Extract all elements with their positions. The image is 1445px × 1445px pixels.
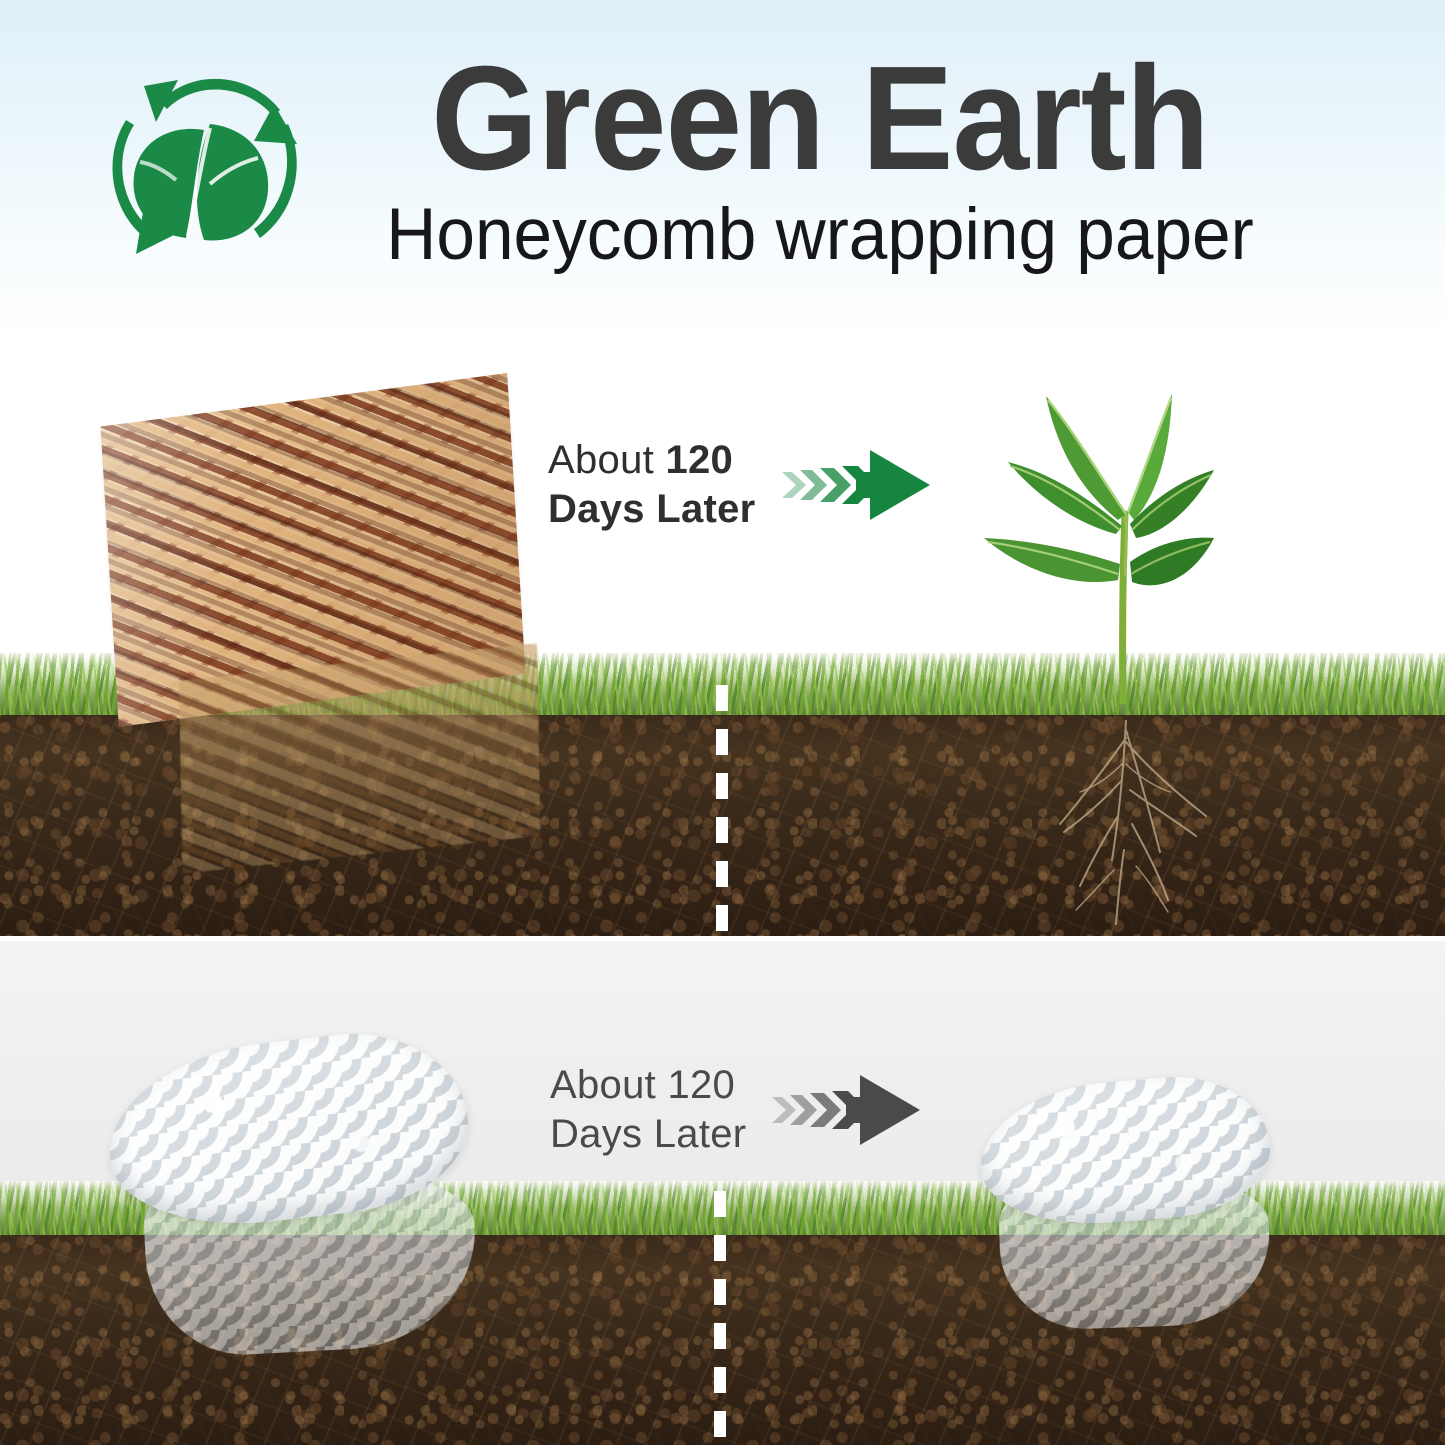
honeycomb-paper-panel: About 120 Days Later xyxy=(0,340,1445,937)
caption-line-2: Days Later xyxy=(550,1110,746,1159)
product-infographic: Green Earth Honeycomb wrapping paper xyxy=(0,0,1445,1445)
title-block: Green Earth Honeycomb wrapping paper xyxy=(320,44,1320,275)
caption-days-count: 120 xyxy=(665,438,733,482)
before-after-caption: About 120 Days Later xyxy=(548,436,934,534)
green-seedling xyxy=(960,374,1290,704)
seedling-roots xyxy=(1000,720,1250,937)
caption-lead: About xyxy=(548,438,665,482)
caption-text: About 120 Days Later xyxy=(548,436,756,534)
page-subtitle: Honeycomb wrapping paper xyxy=(345,195,1295,275)
caption-text: About 120 Days Later xyxy=(550,1061,746,1159)
honeycomb-paper-decomposing xyxy=(179,643,540,873)
header-banner: Green Earth Honeycomb wrapping paper xyxy=(0,0,1445,340)
right-arrow-icon xyxy=(782,442,934,528)
page-title: Green Earth xyxy=(355,44,1285,195)
before-after-caption: About 120 Days Later xyxy=(550,1061,924,1159)
dashed-divider xyxy=(714,1191,726,1445)
caption-line-1: About 120 xyxy=(548,436,756,485)
caption-days-count: 120 xyxy=(667,1063,735,1107)
caption-lead: About xyxy=(550,1063,667,1107)
right-arrow-icon xyxy=(772,1067,924,1153)
dashed-divider xyxy=(716,685,728,937)
caption-line-1: About 120 xyxy=(550,1061,746,1110)
recycle-leaves-icon xyxy=(92,58,320,286)
caption-line-2: Days Later xyxy=(548,485,756,534)
bubble-wrap-panel: About 120 Days Later xyxy=(0,941,1445,1445)
